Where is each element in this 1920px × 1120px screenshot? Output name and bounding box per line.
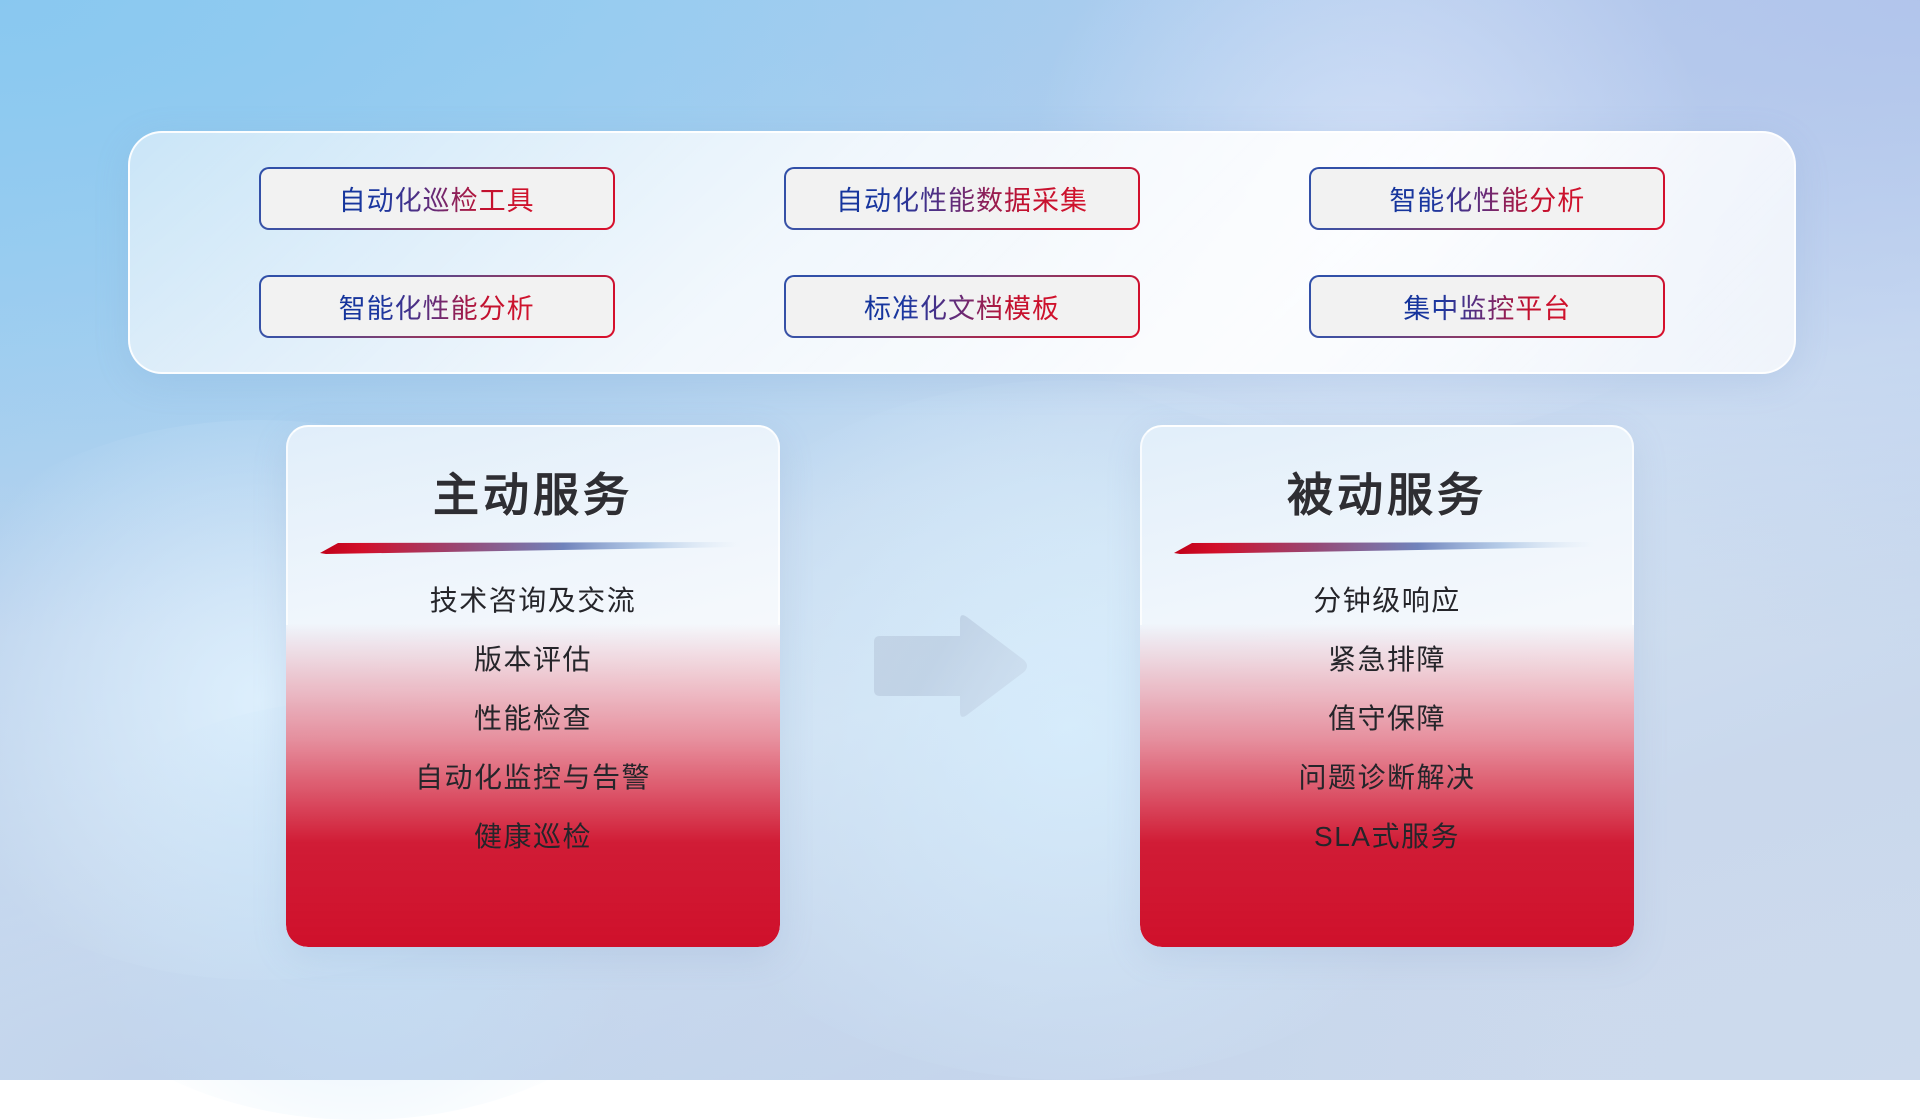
slide-canvas: 自动化巡检工具 自动化性能数据采集 智能化性能分析 智能化性能分析: [0, 0, 1920, 1080]
capability-pill-6-label: 集中监控平台: [1403, 287, 1571, 326]
capability-pill-2-surface: 自动化性能数据采集: [786, 169, 1138, 228]
capability-pill-3-surface: 智能化性能分析: [1311, 169, 1663, 228]
capability-pill-5-surface: 标准化文档模板: [786, 277, 1138, 336]
passive-service-divider: [1174, 541, 1594, 555]
capabilities-grid: 自动化巡检工具 自动化性能数据采集 智能化性能分析 智能化性能分析: [130, 133, 1794, 372]
capability-pill-1-surface: 自动化巡检工具: [261, 169, 613, 228]
capability-pill-1-label: 自动化巡检工具: [339, 179, 535, 218]
arrow-right-icon: [868, 612, 1030, 720]
passive-service-card[interactable]: 被动服务 分钟级响应 紧急排障 值守保障: [1140, 425, 1634, 947]
active-service-title: 主动服务: [286, 459, 780, 525]
capability-pill-3[interactable]: 智能化性能分析: [1309, 167, 1665, 230]
list-item: SLA式服务: [1314, 819, 1460, 855]
capability-pill-6-surface: 集中监控平台: [1311, 277, 1663, 336]
list-item: 性能检查: [474, 701, 592, 737]
capability-pill-3-label: 智能化性能分析: [1389, 179, 1585, 218]
capability-pill-1[interactable]: 自动化巡检工具: [259, 167, 615, 230]
capability-pill-5[interactable]: 标准化文档模板: [784, 275, 1140, 338]
list-item: 分钟级响应: [1313, 583, 1461, 619]
passive-service-list: 分钟级响应 紧急排障 值守保障 问题诊断解决 SLA式服务: [1140, 583, 1634, 855]
list-item: 版本评估: [474, 642, 592, 678]
capability-pill-2[interactable]: 自动化性能数据采集: [784, 167, 1140, 230]
capability-pill-4-surface: 智能化性能分析: [261, 277, 613, 336]
list-item: 值守保障: [1328, 701, 1446, 737]
list-item: 技术咨询及交流: [430, 583, 637, 619]
capability-pill-4[interactable]: 智能化性能分析: [259, 275, 615, 338]
capability-pill-2-label: 自动化性能数据采集: [836, 179, 1088, 218]
list-item: 自动化监控与告警: [415, 760, 651, 796]
list-item: 紧急排障: [1328, 642, 1446, 678]
list-item: 健康巡检: [474, 819, 592, 855]
active-service-card[interactable]: 主动服务 技术咨询及交流 版本评估 性能检查: [286, 425, 780, 947]
capabilities-panel: 自动化巡检工具 自动化性能数据采集 智能化性能分析 智能化性能分析: [128, 131, 1796, 374]
passive-service-title: 被动服务: [1140, 459, 1634, 525]
capability-pill-4-label: 智能化性能分析: [339, 287, 535, 326]
capability-pill-6[interactable]: 集中监控平台: [1309, 275, 1665, 338]
list-item: 问题诊断解决: [1298, 760, 1475, 796]
capability-pill-5-label: 标准化文档模板: [864, 287, 1060, 326]
active-service-divider: [320, 541, 740, 555]
active-service-list: 技术咨询及交流 版本评估 性能检查 自动化监控与告警 健康巡检: [286, 583, 780, 855]
